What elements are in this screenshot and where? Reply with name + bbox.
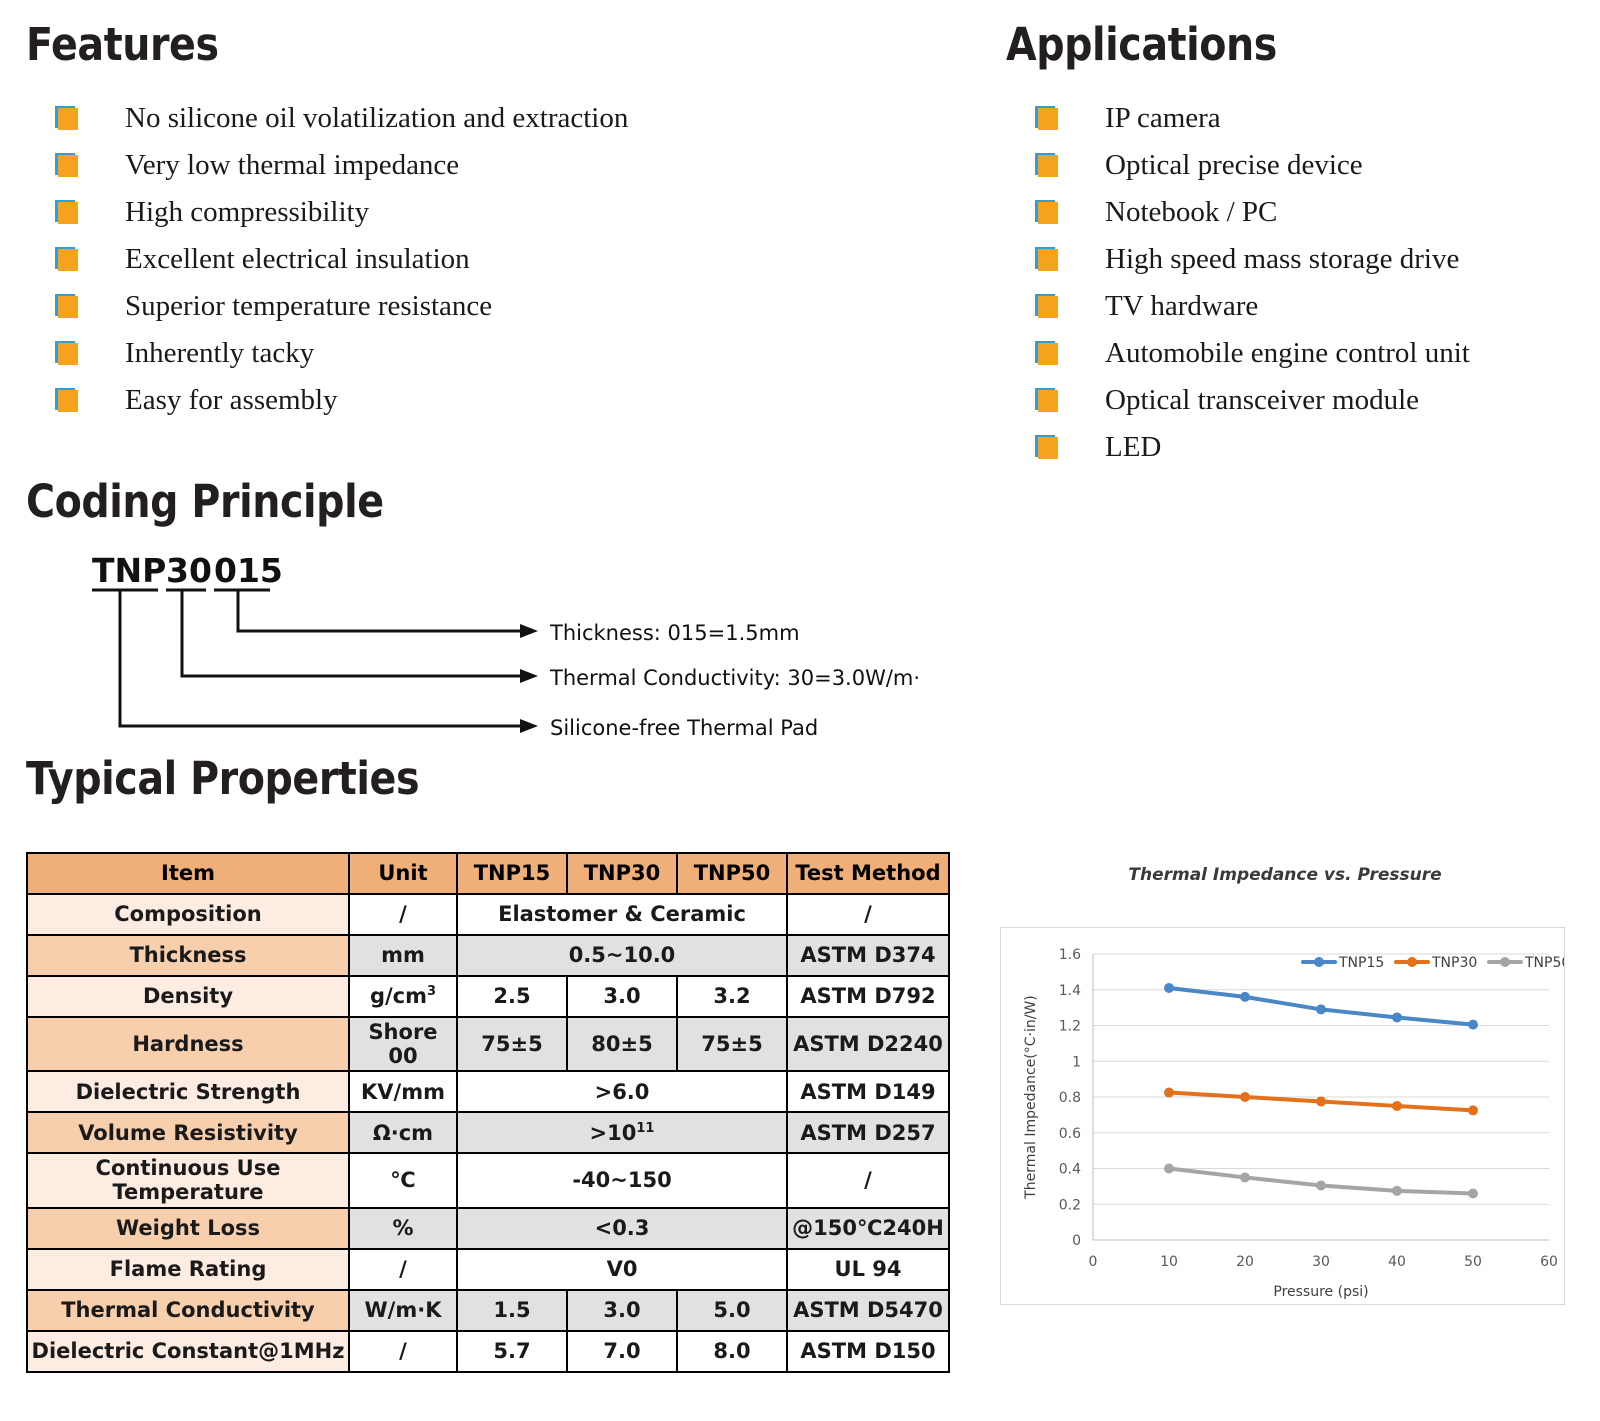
y-axis-tick-label: 0.6 (1059, 1126, 1081, 1142)
table-column-header: Item (27, 853, 349, 894)
table-cell-test-method: ASTM D149 (787, 1071, 949, 1112)
coding-principle-diagram: TNP 30 015 Thickness: 015=1.5mm Thermal … (90, 548, 920, 738)
table-column-header: TNP50 (677, 853, 787, 894)
callout-thickness: Thickness: 015=1.5mm (549, 621, 800, 645)
table-row: Dielectric Constant@1MHz/5.77.08.0ASTM D… (27, 1331, 949, 1372)
table-cell-unit: W/m·K (349, 1290, 457, 1331)
y-axis-tick-label: 1.2 (1059, 1019, 1081, 1035)
features-heading: Features (26, 18, 219, 71)
table-cell-unit: / (349, 894, 457, 935)
square-bullet-icon (55, 155, 77, 177)
table-cell-test-method: ASTM D374 (787, 935, 949, 976)
table-cell-unit: % (349, 1208, 457, 1249)
table-cell-value-tnp30: 80±5 (567, 1017, 677, 1071)
chart-point-TNP30 (1468, 1105, 1478, 1115)
table-cell-value-tnp50: 3.2 (677, 976, 787, 1017)
feature-item-label: No silicone oil volatilization and extra… (125, 100, 628, 136)
application-item: High speed mass storage drive (1035, 241, 1470, 288)
table-cell-value-tnp50: 75±5 (677, 1017, 787, 1071)
table-cell-value-span: -40~150 (457, 1153, 787, 1207)
table-cell-test-method: ASTM D792 (787, 976, 949, 1017)
legend-dot-TNP15 (1314, 957, 1324, 967)
application-item: IP camera (1035, 100, 1470, 147)
application-item: Notebook / PC (1035, 194, 1470, 241)
table-column-header: Unit (349, 853, 457, 894)
feature-item-label: High compressibility (125, 194, 369, 230)
application-item: Automobile engine control unit (1035, 335, 1470, 382)
table-body: Composition/Elastomer & Ceramic/Thicknes… (27, 894, 949, 1372)
legend-dot-TNP30 (1407, 957, 1417, 967)
square-bullet-icon (1035, 390, 1057, 412)
feature-item-label: Inherently tacky (125, 335, 314, 371)
feature-item: Excellent electrical insulation (55, 241, 628, 288)
y-axis-tick-label: 0.4 (1059, 1162, 1081, 1178)
square-bullet-icon (1035, 343, 1057, 365)
legend-label-TNP15: TNP15 (1338, 955, 1384, 971)
feature-item: No silicone oil volatilization and extra… (55, 100, 628, 147)
application-item: TV hardware (1035, 288, 1470, 335)
x-axis-tick-label: 10 (1160, 1254, 1178, 1270)
table-cell-unit: g/cm3 (349, 976, 457, 1017)
table-cell-value-tnp50: 5.0 (677, 1290, 787, 1331)
feature-item-label: Superior temperature resistance (125, 288, 492, 324)
table-cell-item: Flame Rating (27, 1249, 349, 1290)
application-item: Optical precise device (1035, 147, 1470, 194)
feature-item: Easy for assembly (55, 382, 628, 429)
table-cell-test-method: ASTM D5470 (787, 1290, 949, 1331)
code-part-conductivity: 30 (166, 551, 212, 590)
applications-heading: Applications (1006, 18, 1277, 71)
feature-item-label: Very low thermal impedance (125, 147, 459, 183)
table-header-row: ItemUnitTNP15TNP30TNP50Test Method (27, 853, 949, 894)
table-cell-unit: Shore 00 (349, 1017, 457, 1071)
table-cell-value-tnp15: 2.5 (457, 976, 567, 1017)
chart-point-TNP30 (1240, 1092, 1250, 1102)
chart-point-TNP50 (1316, 1180, 1326, 1190)
application-item-label: Optical precise device (1105, 147, 1363, 183)
table-cell-item: Hardness (27, 1017, 349, 1071)
table-row: Densityg/cm32.53.03.2ASTM D792 (27, 976, 949, 1017)
application-item-label: Optical transceiver module (1105, 382, 1419, 418)
table-row: HardnessShore 0075±580±575±5ASTM D2240 (27, 1017, 949, 1071)
table-cell-test-method: ASTM D2240 (787, 1017, 949, 1071)
table-cell-unit: mm (349, 935, 457, 976)
y-axis-tick-label: 0 (1072, 1233, 1081, 1249)
table-column-header: TNP30 (567, 853, 677, 894)
applications-list: IP cameraOptical precise deviceNotebook … (1035, 100, 1470, 476)
square-bullet-icon (1035, 202, 1057, 224)
table-cell-test-method: / (787, 894, 949, 935)
table-cell-item: Density (27, 976, 349, 1017)
square-bullet-icon (55, 390, 77, 412)
chart-point-TNP30 (1164, 1088, 1174, 1098)
y-axis-title: Thermal Impedance(°C·in/W) (1023, 995, 1039, 1200)
thermal-impedance-chart: Thermal Impedance vs. Pressure 00.20.40.… (1000, 865, 1570, 1315)
table-cell-unit: / (349, 1331, 457, 1372)
chart-point-TNP30 (1392, 1101, 1402, 1111)
table-cell-item: Thermal Conductivity (27, 1290, 349, 1331)
square-bullet-icon (1035, 108, 1057, 130)
square-bullet-icon (1035, 437, 1057, 459)
table-cell-test-method: @150℃240H (787, 1208, 949, 1249)
square-bullet-icon (55, 108, 77, 130)
feature-item: Very low thermal impedance (55, 147, 628, 194)
table-cell-value-span: >1011 (457, 1112, 787, 1153)
table-row: Dielectric StrengthKV/mm>6.0ASTM D149 (27, 1071, 949, 1112)
table-cell-value-span: V0 (457, 1249, 787, 1290)
table-cell-unit: Ω·cm (349, 1112, 457, 1153)
table-cell-item: Continuous Use Temperature (27, 1153, 349, 1207)
square-bullet-icon (55, 202, 77, 224)
chart-plot-container: 00.20.40.60.811.21.41.60102030405060Pres… (1000, 927, 1565, 1305)
chart-point-TNP15 (1316, 1004, 1326, 1014)
square-bullet-icon (1035, 296, 1057, 318)
application-item-label: Automobile engine control unit (1105, 335, 1470, 371)
table-cell-value-tnp15: 5.7 (457, 1331, 567, 1372)
table-cell-item: Weight Loss (27, 1208, 349, 1249)
square-bullet-icon (55, 343, 77, 365)
table-cell-unit: KV/mm (349, 1071, 457, 1112)
x-axis-tick-label: 40 (1388, 1254, 1406, 1270)
application-item-label: High speed mass storage drive (1105, 241, 1459, 277)
table-cell-value-span: >6.0 (457, 1071, 787, 1112)
table-cell-test-method: / (787, 1153, 949, 1207)
table-row: Volume ResistivityΩ·cm>1011ASTM D257 (27, 1112, 949, 1153)
chart-point-TNP50 (1240, 1172, 1250, 1182)
feature-item-label: Easy for assembly (125, 382, 338, 418)
table-cell-value-span: <0.3 (457, 1208, 787, 1249)
table-cell-value-span: Elastomer & Ceramic (457, 894, 787, 935)
application-item: LED (1035, 429, 1470, 476)
table-row: Weight Loss%<0.3@150℃240H (27, 1208, 949, 1249)
chart-point-TNP15 (1392, 1012, 1402, 1022)
x-axis-tick-label: 20 (1236, 1254, 1254, 1270)
coding-principle-heading: Coding Principle (26, 475, 384, 528)
table-cell-value-tnp30: 3.0 (567, 976, 677, 1017)
y-axis-tick-label: 0.8 (1059, 1090, 1081, 1106)
x-axis-title: Pressure (psi) (1273, 1284, 1368, 1300)
application-item-label: TV hardware (1105, 288, 1258, 324)
table-cell-item: Dielectric Strength (27, 1071, 349, 1112)
table-cell-value-tnp15: 1.5 (457, 1290, 567, 1331)
y-axis-tick-label: 1.6 (1059, 947, 1081, 963)
table-cell-value-tnp30: 3.0 (567, 1290, 677, 1331)
feature-item-label: Excellent electrical insulation (125, 241, 470, 277)
square-bullet-icon (1035, 155, 1057, 177)
chart-point-TNP15 (1164, 983, 1174, 993)
callout-thermal-conductivity: Thermal Conductivity: 30=3.0W/m·K (549, 666, 920, 690)
y-axis-tick-label: 1.4 (1059, 983, 1081, 999)
table-cell-item: Composition (27, 894, 349, 935)
table-cell-value-span: 0.5~10.0 (457, 935, 787, 976)
feature-item: Superior temperature resistance (55, 288, 628, 335)
table-cell-item: Volume Resistivity (27, 1112, 349, 1153)
chart-point-TNP50 (1392, 1186, 1402, 1196)
x-axis-tick-label: 0 (1089, 1254, 1098, 1270)
table-cell-item: Thickness (27, 935, 349, 976)
table-cell-unit: ℃ (349, 1153, 457, 1207)
application-item-label: IP camera (1105, 100, 1221, 136)
callout-product-type: Silicone-free Thermal Pad (550, 716, 818, 738)
chart-point-TNP50 (1164, 1164, 1174, 1174)
feature-item: Inherently tacky (55, 335, 628, 382)
square-bullet-icon (1035, 249, 1057, 271)
table-row: Thermal ConductivityW/m·K1.53.05.0ASTM D… (27, 1290, 949, 1331)
typical-properties-heading: Typical Properties (26, 752, 419, 805)
typical-properties-table: ItemUnitTNP15TNP30TNP50Test Method Compo… (26, 852, 950, 1373)
y-axis-tick-label: 0.2 (1059, 1197, 1081, 1213)
application-item-label: Notebook / PC (1105, 194, 1277, 230)
code-part-prefix: TNP (92, 551, 166, 590)
table-cell-item: Dielectric Constant@1MHz (27, 1331, 349, 1372)
features-list: No silicone oil volatilization and extra… (55, 100, 628, 429)
chart-point-TNP15 (1468, 1020, 1478, 1030)
x-axis-tick-label: 60 (1540, 1254, 1558, 1270)
table-column-header: TNP15 (457, 853, 567, 894)
table-row: Continuous Use Temperature℃-40~150/ (27, 1153, 949, 1207)
square-bullet-icon (55, 249, 77, 271)
application-item-label: LED (1105, 429, 1161, 465)
table-column-header: Test Method (787, 853, 949, 894)
legend-label-TNP30: TNP30 (1431, 955, 1477, 971)
table-cell-value-tnp50: 8.0 (677, 1331, 787, 1372)
chart-title: Thermal Impedance vs. Pressure (1000, 865, 1570, 885)
x-axis-tick-label: 30 (1312, 1254, 1330, 1270)
chart-point-TNP50 (1468, 1189, 1478, 1199)
x-axis-tick-label: 50 (1464, 1254, 1482, 1270)
table-cell-unit: / (349, 1249, 457, 1290)
table-cell-test-method: UL 94 (787, 1249, 949, 1290)
code-part-thickness: 015 (214, 551, 283, 590)
table-cell-test-method: ASTM D150 (787, 1331, 949, 1372)
y-axis-tick-label: 1 (1072, 1054, 1081, 1070)
table-row: Composition/Elastomer & Ceramic/ (27, 894, 949, 935)
chart-point-TNP30 (1316, 1096, 1326, 1106)
table-cell-test-method: ASTM D257 (787, 1112, 949, 1153)
table-cell-value-tnp15: 75±5 (457, 1017, 567, 1071)
legend-label-TNP50: TNP50 (1524, 955, 1564, 971)
table-row: Thicknessmm0.5~10.0ASTM D374 (27, 935, 949, 976)
chart-point-TNP15 (1240, 992, 1250, 1002)
table-row: Flame Rating/V0UL 94 (27, 1249, 949, 1290)
feature-item: High compressibility (55, 194, 628, 241)
table-cell-value-tnp30: 7.0 (567, 1331, 677, 1372)
square-bullet-icon (55, 296, 77, 318)
legend-dot-TNP50 (1500, 957, 1510, 967)
application-item: Optical transceiver module (1035, 382, 1470, 429)
